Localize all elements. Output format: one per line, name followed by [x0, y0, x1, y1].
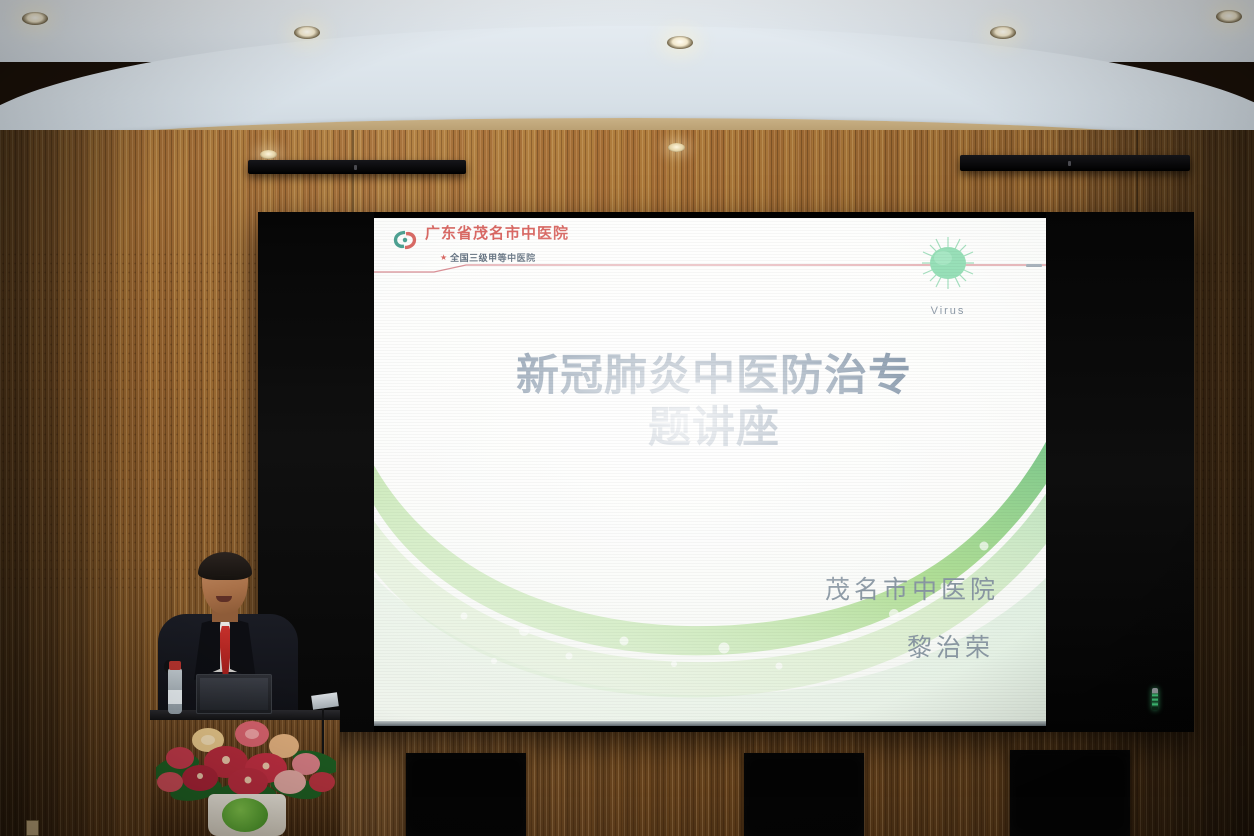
slide-title: 新冠肺炎中医防治专 题讲座: [434, 350, 994, 455]
downlight-icon: [668, 143, 685, 152]
downlight-icon: [260, 150, 277, 159]
slide-edge-dash: [1026, 264, 1042, 267]
slide-title-line-2: 题讲座: [434, 402, 994, 454]
virus-label: Virus: [902, 305, 994, 317]
star-icon: ★: [440, 254, 447, 262]
hospital-swirl-logo-icon: [392, 228, 418, 252]
wall-shadow-left: [0, 130, 150, 836]
screen-bottom-edge: [374, 721, 1046, 726]
speaker-at-podium: [150, 548, 340, 836]
slide-organization: 茂名市中医院: [374, 570, 999, 606]
slide-title-line-1: 新冠肺炎中医防治专: [434, 350, 994, 402]
slide-logo-block: 广东省茂名市中医院: [392, 226, 569, 252]
downlight-icon: [667, 36, 693, 49]
speaker-glasses-icon: [205, 575, 245, 584]
downlight-icon: [294, 26, 320, 39]
soundbar-indicator-icon: [354, 165, 357, 170]
projection-screen-frame: 广东省茂名市中医院 ★ 全国三级甲等中医院: [258, 212, 1194, 732]
lower-wall-panel: [406, 753, 526, 836]
soundbar-indicator-icon: [1068, 161, 1071, 166]
virus-icon: [914, 232, 982, 294]
downlight-icon: [990, 26, 1016, 39]
lecture-hall-photo: 广东省茂名市中医院 ★ 全国三级甲等中医院: [0, 0, 1254, 836]
virus-badge: Virus: [902, 232, 994, 317]
wall-outlet: [26, 820, 39, 836]
vase-leaf-decoration: [222, 798, 268, 832]
flower-arrangement: [156, 690, 336, 808]
power-led-icon: [1152, 688, 1158, 710]
slide-presenter-name: 黎治荣: [374, 628, 994, 664]
bottle-cap: [169, 661, 181, 670]
lower-wall-panel: [1010, 750, 1130, 836]
downlight-icon: [22, 12, 48, 25]
presentation-slide: 广东省茂名市中医院 ★ 全国三级甲等中医院: [374, 218, 1046, 726]
right-soundbar: [960, 155, 1190, 171]
downlight-icon: [1216, 10, 1242, 23]
lower-wall-panel: [744, 753, 864, 836]
logo-title: 广东省茂名市中医院: [425, 226, 569, 242]
screen-bezel-right: [1046, 212, 1194, 732]
left-soundbar: [248, 160, 466, 174]
